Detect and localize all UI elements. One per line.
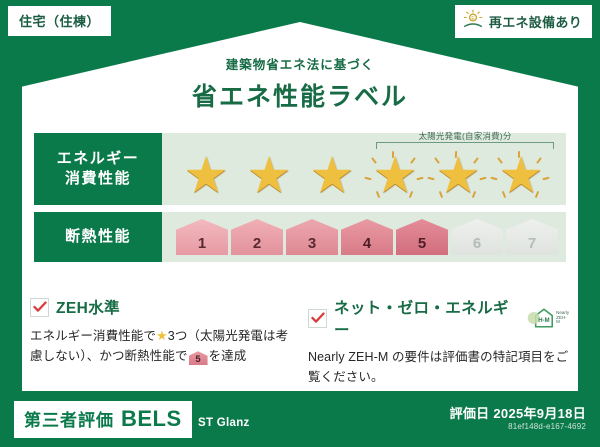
- criterion-title: ZEH水準: [56, 296, 120, 318]
- criterion-body: Nearly ZEH-M の要件は評価書の特記項目をご覧ください。: [308, 347, 570, 388]
- energy-performance-value: 太陽光発電(自家消費)分 ★ ★ ★: [162, 133, 566, 205]
- insulation-level-value: 6: [473, 235, 481, 252]
- criteria-section: ZEH水準 エネルギー消費性能で★3つ（太陽光発電は考慮しない）、かつ断熱性能で…: [30, 296, 570, 388]
- renewable-equipment-badge: E 再エネ設備あり: [455, 5, 592, 38]
- criterion-body-post: を達成: [209, 349, 247, 363]
- insulation-level-5: 5: [396, 219, 448, 255]
- insulation-level-4: 4: [341, 219, 393, 255]
- zeh-m-caption-line2: ZEH-M: [556, 315, 567, 325]
- star-glyph: ★: [499, 150, 544, 200]
- star-glyph: ★: [373, 150, 418, 200]
- star-3: ★: [302, 148, 362, 202]
- title-subtitle: 建築物省エネ法に基づく: [0, 54, 600, 73]
- insulation-level-value: 7: [528, 235, 536, 252]
- checkmark-icon: [308, 309, 327, 328]
- star-6-solar: ★: [491, 148, 551, 202]
- bels-logo-text: BELS: [121, 406, 182, 432]
- insulation-level-7: 7: [506, 219, 558, 255]
- evaluation-date: 評価日 2025年9月18日: [450, 403, 586, 422]
- title-main: 省エネ性能ラベル: [0, 77, 600, 113]
- energy-performance-label-card: 住宅（住棟） E 再エネ設備あり 建築物省エネ法に基づく 省エネ性能ラベル: [0, 0, 600, 447]
- inline-star-icon: ★: [156, 328, 168, 343]
- energy-performance-row: エネルギー 消費性能 太陽光発電(自家消費)分 ★ ★ ★: [34, 133, 566, 205]
- insulation-level-value: 2: [253, 235, 261, 252]
- star-2: ★: [239, 148, 299, 202]
- svg-text:H-M: H-M: [538, 318, 549, 324]
- project-name: ST Glanz: [198, 417, 250, 429]
- energy-label-line1: エネルギー: [57, 149, 140, 169]
- insulation-level-value: 5: [418, 235, 426, 252]
- insulation-level-value: 3: [308, 235, 316, 252]
- insulation-performance-value: 1 2 3 4 5 6: [162, 212, 566, 262]
- criterion-title: ネット・ゼロ・エネルギー: [334, 296, 514, 340]
- checkmark-icon: [30, 298, 49, 317]
- criterion-body-pre: エネルギー消費性能で: [30, 329, 156, 343]
- criterion-header: ネット・ゼロ・エネルギー H-M Nearly ZEH-M: [308, 296, 570, 340]
- star-glyph: ★: [247, 150, 292, 200]
- third-party-evaluation-label: 第三者評価: [24, 406, 114, 431]
- insulation-performance-row: 断熱性能 1 2 3 4 5: [34, 212, 566, 262]
- energy-label-line2: 消費性能: [65, 169, 131, 189]
- star-rating: ★ ★ ★ ★: [162, 136, 551, 202]
- criterion-zeh-standard: ZEH水準 エネルギー消費性能で★3つ（太陽光発電は考慮しない）、かつ断熱性能で…: [30, 296, 292, 388]
- footer: 第三者評価 BELS ST Glanz 評価日 2025年9月18日 81ef1…: [0, 391, 600, 447]
- insulation-level-1: 1: [176, 219, 228, 255]
- energy-performance-label: エネルギー 消費性能: [34, 133, 162, 205]
- insulation-label-line1: 断熱性能: [65, 227, 131, 247]
- star-glyph: ★: [184, 150, 229, 200]
- sun-renewable-icon: E: [462, 9, 484, 34]
- title-block: 建築物省エネ法に基づく 省エネ性能ラベル: [0, 54, 600, 113]
- inline-insulation-badge: 5: [189, 351, 208, 365]
- zeh-m-house-logo: H-M Nearly ZEH-M: [525, 307, 570, 329]
- criterion-header: ZEH水準: [30, 296, 292, 318]
- star-glyph: ★: [310, 150, 355, 200]
- criterion-net-zero-energy: ネット・ゼロ・エネルギー H-M Nearly ZEH-M Nearly ZEH…: [308, 296, 570, 388]
- bels-certification-plate: 第三者評価 BELS: [14, 401, 192, 438]
- insulation-level-scale: 1 2 3 4 5 6: [162, 219, 558, 255]
- criterion-body-stars: 3つ（太陽光発電: [168, 329, 263, 343]
- insulation-level-value: 4: [363, 235, 371, 252]
- zeh-m-caption: Nearly ZEH-M: [556, 311, 570, 326]
- insulation-performance-label: 断熱性能: [34, 212, 162, 262]
- star-glyph: ★: [436, 150, 481, 200]
- star-5-solar: ★: [428, 148, 488, 202]
- criterion-body: エネルギー消費性能で★3つ（太陽光発電は考慮しない）、かつ断熱性能で5を達成: [30, 325, 292, 367]
- insulation-level-2: 2: [231, 219, 283, 255]
- evaluation-id: 81ef148d-e167-4692: [508, 422, 586, 431]
- star-4-solar: ★: [365, 148, 425, 202]
- renewable-badge-label: 再エネ設備あり: [489, 12, 582, 31]
- insulation-level-3: 3: [286, 219, 338, 255]
- building-type-tag: 住宅（住棟）: [8, 6, 111, 36]
- building-type-text: 住宅（住棟）: [19, 14, 100, 29]
- rating-rows: エネルギー 消費性能 太陽光発電(自家消費)分 ★ ★ ★: [34, 133, 566, 269]
- insulation-level-6: 6: [451, 219, 503, 255]
- insulation-level-value: 1: [198, 235, 206, 252]
- star-1: ★: [176, 148, 236, 202]
